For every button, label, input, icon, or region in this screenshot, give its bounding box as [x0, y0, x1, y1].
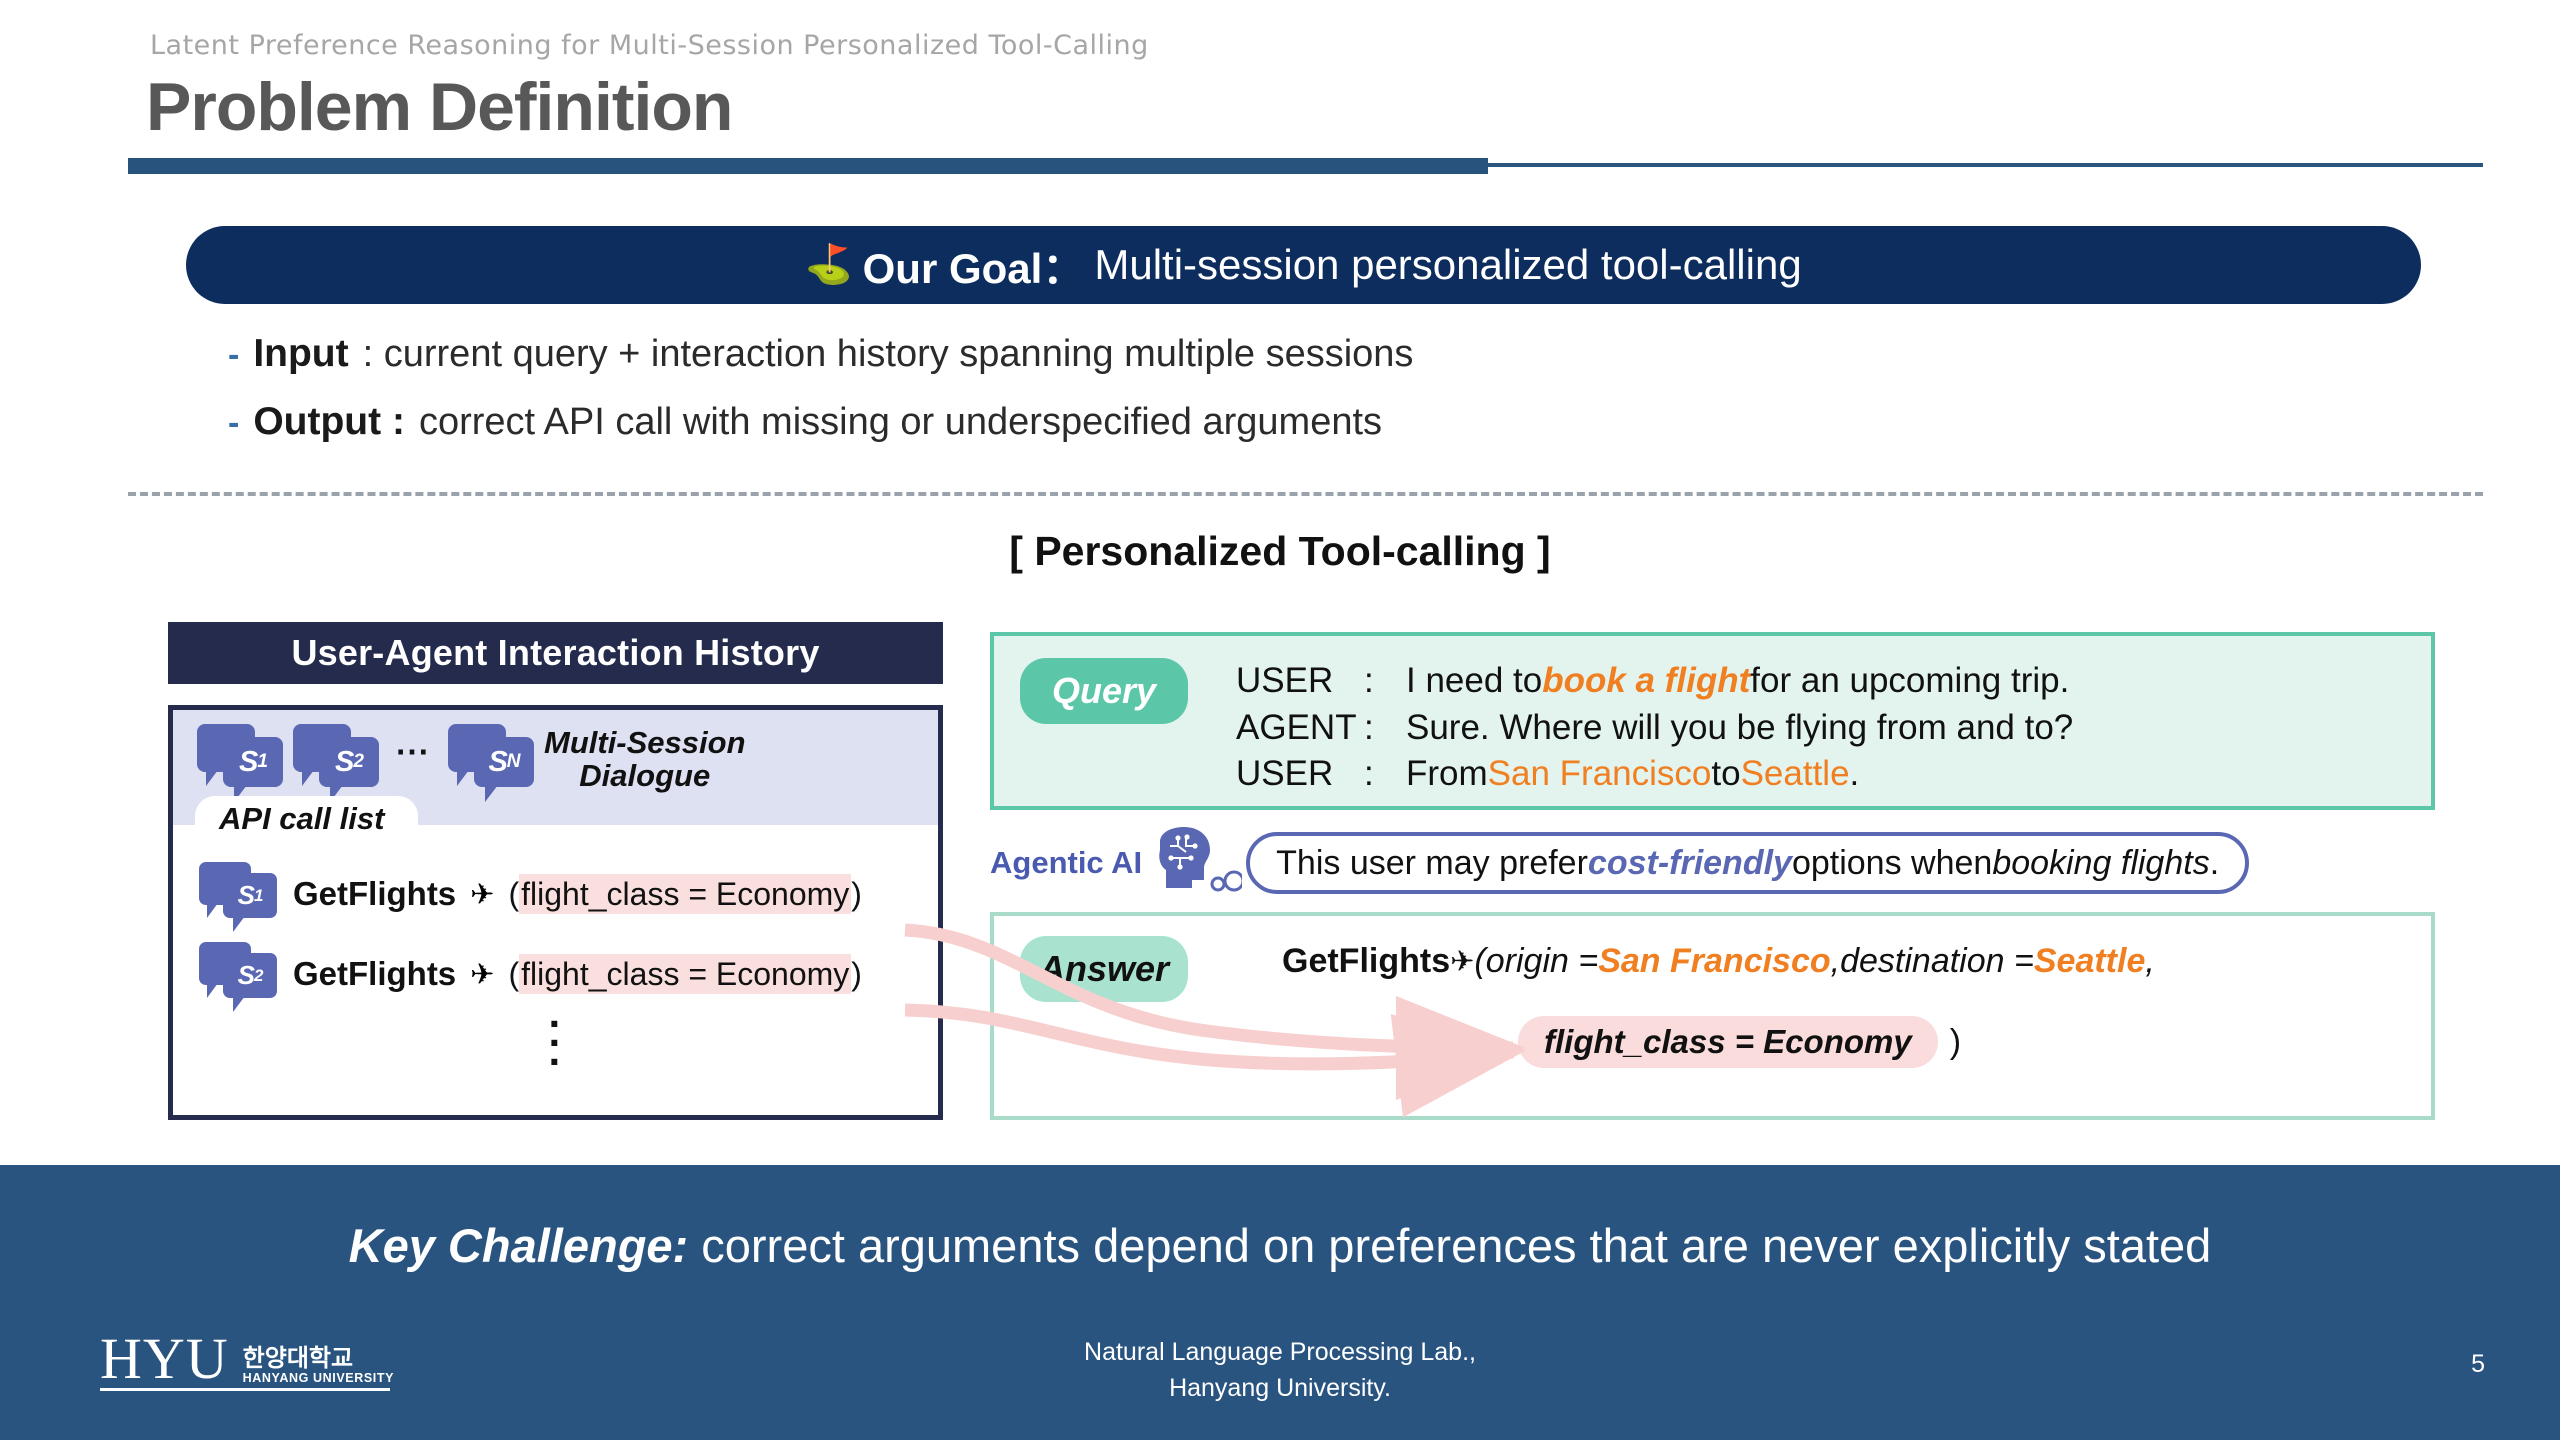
bullet-text: : current query + interaction history sp…: [363, 333, 1414, 376]
query-highlight: San Francisco: [1488, 751, 1712, 798]
speech-bubble-front-icon: S2: [223, 953, 277, 998]
paren-open: (: [1474, 942, 1485, 981]
answer-arg1-key: origin =: [1486, 942, 1598, 981]
query-lines: USER : I need to book a flight for an up…: [1236, 658, 2073, 798]
bullet-input: - Input : current query + interaction hi…: [228, 332, 1413, 376]
session-sub: 2: [353, 751, 363, 773]
api-argument-value: flight_class = Economy: [519, 874, 851, 914]
query-colon: :: [1364, 751, 1406, 798]
session-sub: 1: [254, 886, 262, 906]
query-line: AGENT : Sure. Where will you be flying f…: [1236, 705, 2073, 752]
api-call-row: S2 GetFlights ✈ (flight_class = Economy): [199, 940, 862, 1008]
agentic-ai-row: Agentic AI: [990, 826, 2249, 900]
query-highlight-2: Seattle: [1741, 751, 1850, 798]
golf-flag-icon: ⛳: [805, 246, 852, 284]
key-challenge-text: Key Challenge: correct arguments depend …: [0, 1218, 2560, 1273]
thought-post: .: [2210, 844, 2219, 883]
api-function-name: GetFlights: [293, 875, 456, 913]
dashed-separator: [128, 492, 2483, 496]
session-bubble: SN: [448, 724, 534, 798]
query-colon: :: [1364, 705, 1406, 752]
agent-thought-bubble: This user may prefer cost-friendly optio…: [1246, 832, 2249, 894]
speech-bubble-front-icon: S1: [223, 737, 283, 787]
goal-banner-text: Multi-session personalized tool-calling: [1094, 241, 1801, 289]
session-label: S: [335, 746, 353, 779]
multi-session-line1: Multi-Session: [544, 726, 746, 759]
query-highlight: book a flight: [1542, 658, 1750, 705]
answer-arg2-key: destination =: [1840, 942, 2034, 981]
lab-line-2: Hanyang University.: [0, 1370, 2560, 1406]
airplane-icon: ✈: [470, 877, 494, 912]
api-call-list-tab: API call list: [195, 796, 418, 841]
query-line: USER : From San Francisco to Seattle.: [1236, 751, 2073, 798]
answer-arg3-line: flight_class = Economy ): [1518, 1016, 1961, 1068]
airplane-icon: ✈: [1450, 944, 1474, 979]
session-sub: 2: [254, 966, 262, 986]
query-role: USER: [1236, 751, 1364, 798]
page-title: Problem Definition: [146, 68, 732, 146]
section-header: [ Personalized Tool-calling ]: [0, 528, 2560, 575]
session-bubble: S1: [199, 860, 279, 928]
query-text-post: .: [1850, 751, 1860, 798]
paren-close: ): [851, 956, 862, 992]
session-label: S: [238, 880, 254, 911]
api-argument: (flight_class = Economy): [508, 956, 861, 993]
airplane-icon: ✈: [470, 957, 494, 992]
horizontal-ellipsis-icon: ⋯: [389, 732, 438, 790]
session-label: S: [238, 960, 254, 991]
section-header-label: [ Personalized Tool-calling ]: [997, 528, 1562, 575]
api-argument: (flight_class = Economy): [508, 876, 861, 913]
bullet-dash: -: [228, 336, 239, 375]
api-argument-value: flight_class = Economy: [519, 954, 851, 994]
thought-mid: options when: [1792, 844, 1992, 883]
query-text-mid: for an upcoming trip.: [1750, 658, 2069, 705]
multi-session-dialogue-label: Multi-Session Dialogue: [544, 726, 746, 797]
title-rule-thick: [128, 158, 1488, 174]
vertical-ellipsis-icon: ···: [549, 1015, 563, 1072]
query-text-mid: to: [1711, 751, 1740, 798]
thought-highlight: cost-friendly: [1588, 844, 1792, 883]
session-bubble: S2: [199, 940, 279, 1008]
session-sub: 1: [257, 751, 267, 773]
bullet-label: Output :: [253, 400, 405, 444]
api-function-name: GetFlights: [1282, 942, 1450, 981]
query-colon: :: [1364, 658, 1406, 705]
answer-call-line: GetFlights✈(origin = San Francisco, dest…: [1282, 942, 2155, 981]
history-panel-title: User-Agent Interaction History: [168, 622, 943, 684]
bullet-label: Input: [253, 332, 348, 376]
goal-banner: ⛳ Our Goal： Multi-session personalized t…: [186, 226, 2421, 304]
agentic-ai-label: Agentic AI: [990, 845, 1142, 881]
query-badge: Query: [1020, 658, 1188, 724]
query-role: AGENT: [1236, 705, 1364, 752]
bullet-text: correct API call with missing or undersp…: [419, 401, 1382, 444]
paren-close: ): [851, 876, 862, 912]
thought-pre: This user may prefer: [1276, 844, 1588, 883]
goal-banner-strong: Our Goal：: [863, 235, 1085, 296]
bullet-output: - Output : correct API call with missing…: [228, 400, 1382, 444]
slide-root: Latent Preference Reasoning for Multi-Se…: [0, 0, 2560, 1440]
paren-close: ): [1950, 1023, 1961, 1062]
session-bubble: S2: [293, 724, 379, 798]
api-function-name: GetFlights: [293, 955, 456, 993]
query-text-pre: I need to: [1406, 658, 1542, 705]
history-panel-body: S1 S2 ⋯ SN Multi-Session Dialogue AP: [168, 705, 943, 1120]
multi-session-line2: Dialogue: [544, 759, 746, 792]
lab-line-1: Natural Language Processing Lab.,: [0, 1334, 2560, 1370]
key-challenge-rest: correct arguments depend on preferences …: [688, 1219, 2211, 1272]
speech-bubble-front-icon: S2: [319, 737, 379, 787]
query-box: Query USER : I need to book a flight for…: [990, 632, 2435, 810]
page-number: 5: [2471, 1350, 2485, 1379]
api-call-row: S1 GetFlights ✈ (flight_class = Economy): [199, 860, 862, 928]
thought-italic: booking flights: [1992, 844, 2209, 883]
paren-open: (: [508, 876, 519, 912]
session-bubble: S1: [197, 724, 283, 798]
session-label: S: [488, 746, 506, 779]
query-line: USER : I need to book a flight for an up…: [1236, 658, 2073, 705]
answer-arg2-value: Seattle: [2034, 942, 2146, 981]
paren-open: (: [508, 956, 519, 992]
answer-comma-1: ,: [1831, 942, 1840, 981]
answer-box: Answer GetFlights✈(origin = San Francisc…: [990, 912, 2435, 1120]
answer-arg1-value: San Francisco: [1598, 942, 1830, 981]
lab-affiliation: Natural Language Processing Lab., Hanyan…: [0, 1334, 2560, 1407]
bullet-dash: -: [228, 404, 239, 443]
answer-comma-2: ,: [2145, 942, 2154, 981]
flight-class-pill: flight_class = Economy: [1518, 1016, 1938, 1068]
session-bubble-row: S1 S2 ⋯ SN Multi-Session Dialogue: [197, 724, 746, 798]
query-role: USER: [1236, 658, 1364, 705]
speech-bubble-front-icon: SN: [474, 737, 534, 787]
speech-bubble-front-icon: S1: [223, 873, 277, 918]
session-sub: N: [507, 751, 520, 773]
key-challenge-strong: Key Challenge:: [349, 1219, 689, 1272]
answer-badge: Answer: [1020, 936, 1188, 1002]
ai-head-icon: [1146, 826, 1242, 900]
query-text-pre: From: [1406, 751, 1488, 798]
query-text-pre: Sure. Where will you be flying from and …: [1406, 705, 2073, 752]
slide-kicker: Latent Preference Reasoning for Multi-Se…: [150, 30, 1149, 61]
session-label: S: [239, 746, 257, 779]
